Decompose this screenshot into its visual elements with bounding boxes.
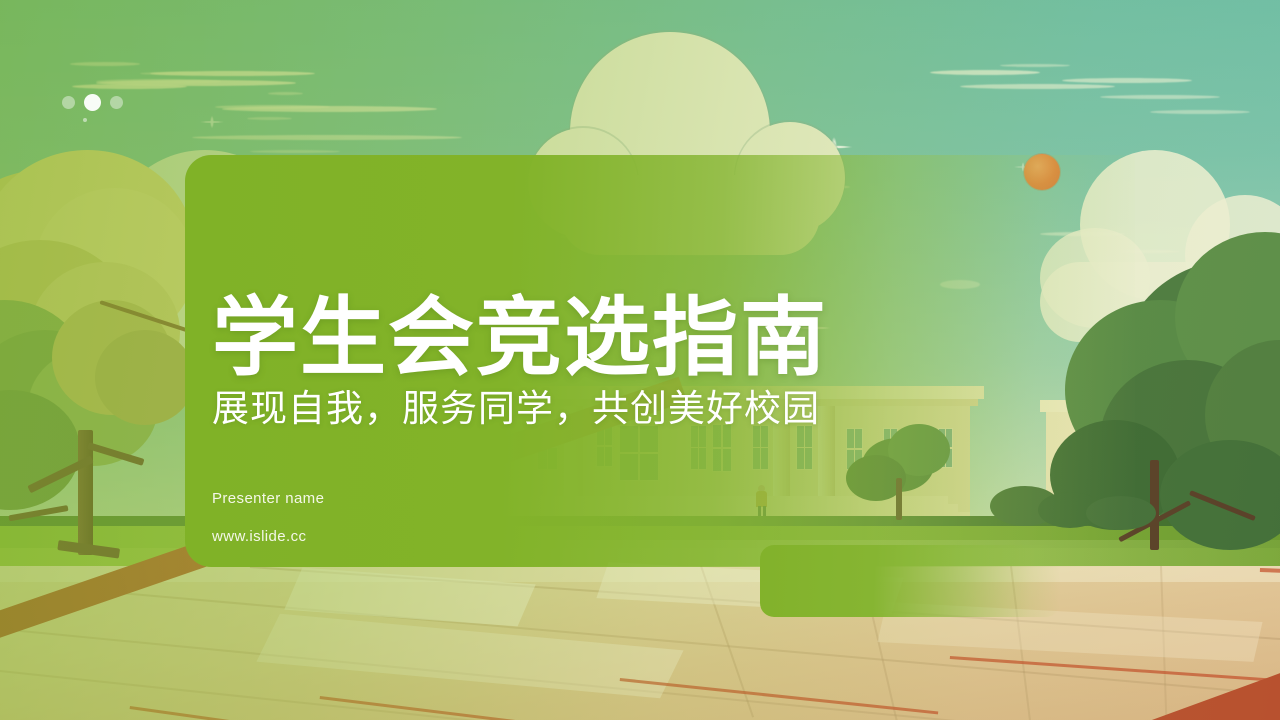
plaza-pavement bbox=[0, 566, 1280, 720]
dot-icon-2 bbox=[84, 94, 101, 111]
dot-icon-4 bbox=[83, 118, 87, 122]
accent-bar bbox=[760, 545, 1060, 617]
decorative-dots bbox=[62, 94, 123, 111]
website-url[interactable]: www.islide.cc bbox=[212, 528, 306, 545]
dot-icon-3 bbox=[110, 96, 123, 109]
presenter-name: Presenter name bbox=[212, 490, 324, 507]
slide-subtitle: 展现自我，服务同学，共创美好校园 bbox=[212, 390, 820, 427]
title-card: 学生会竞选指南 展现自我，服务同学，共创美好校园 Presenter name … bbox=[185, 155, 1135, 567]
dot-icon-1 bbox=[62, 96, 75, 109]
page-title: 学生会竞选指南 bbox=[212, 295, 828, 381]
presentation-slide: 学生会竞选指南 展现自我，服务同学，共创美好校园 Presenter name … bbox=[0, 0, 1280, 720]
